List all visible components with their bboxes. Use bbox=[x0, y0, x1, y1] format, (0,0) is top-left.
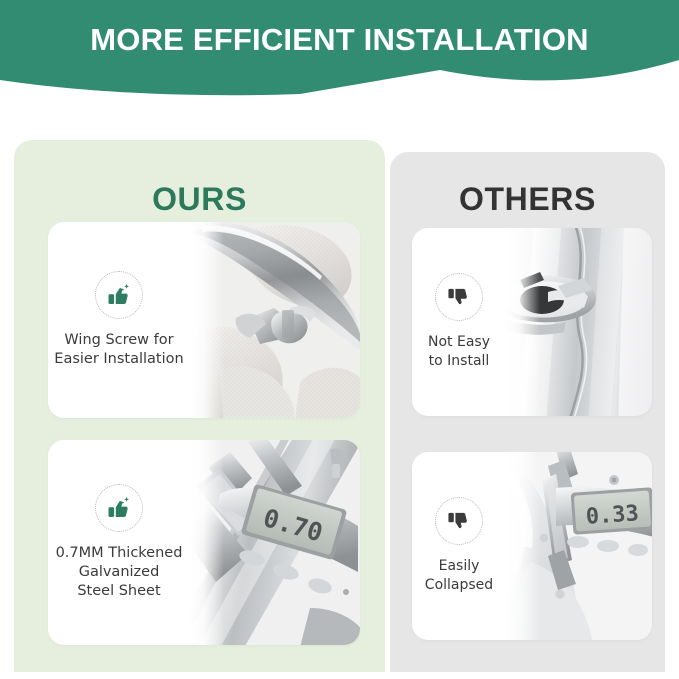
card-label: Not Easy to Install bbox=[428, 333, 490, 371]
card-others-easily-collapsed[interactable]: Easily Collapsed bbox=[412, 452, 652, 640]
card-label: Easily Collapsed bbox=[425, 557, 493, 595]
card-others-hard-install[interactable]: Not Easy to Install bbox=[412, 228, 652, 416]
thumbs-up-sparkle-icon bbox=[95, 271, 143, 319]
comparison-infographic: MORE EFFICIENT INSTALLATION OURS Wing Sc… bbox=[0, 0, 679, 679]
card-text-block: 0.7MM Thickened Galvanized Steel Sheet bbox=[48, 440, 190, 645]
thumbs-up-sparkle-icon bbox=[95, 484, 143, 532]
digital-caliper-measuring-duct-photo: 0.70 bbox=[190, 440, 360, 645]
thumbs-down-icon bbox=[435, 497, 483, 545]
page-title: MORE EFFICIENT INSTALLATION bbox=[0, 20, 679, 60]
thumbs-down-icon bbox=[435, 273, 483, 321]
card-ours-wing-screw[interactable]: Wing Screw for Easier Installation bbox=[48, 222, 360, 418]
card-label: Wing Screw for Easier Installation bbox=[54, 331, 183, 369]
card-text-block: Wing Screw for Easier Installation bbox=[48, 222, 190, 418]
panel-heading-others: OTHERS bbox=[390, 180, 665, 218]
card-text-block: Not Easy to Install bbox=[412, 228, 506, 416]
gloved-hands-installing-wing-screw-photo bbox=[190, 222, 360, 418]
header-banner: MORE EFFICIENT INSTALLATION bbox=[0, 0, 679, 102]
card-label: 0.7MM Thickened Galvanized Steel Sheet bbox=[56, 544, 183, 601]
pliers-clamping-thin-duct-photo bbox=[506, 228, 652, 416]
card-text-block: Easily Collapsed bbox=[412, 452, 506, 640]
card-ours-steel-thickness[interactable]: 0.7MM Thickened Galvanized Steel Sheet bbox=[48, 440, 360, 645]
panel-heading-ours: OURS bbox=[14, 180, 385, 218]
digital-caliper-measuring-thin-duct-photo: 0.33 bbox=[506, 452, 652, 640]
